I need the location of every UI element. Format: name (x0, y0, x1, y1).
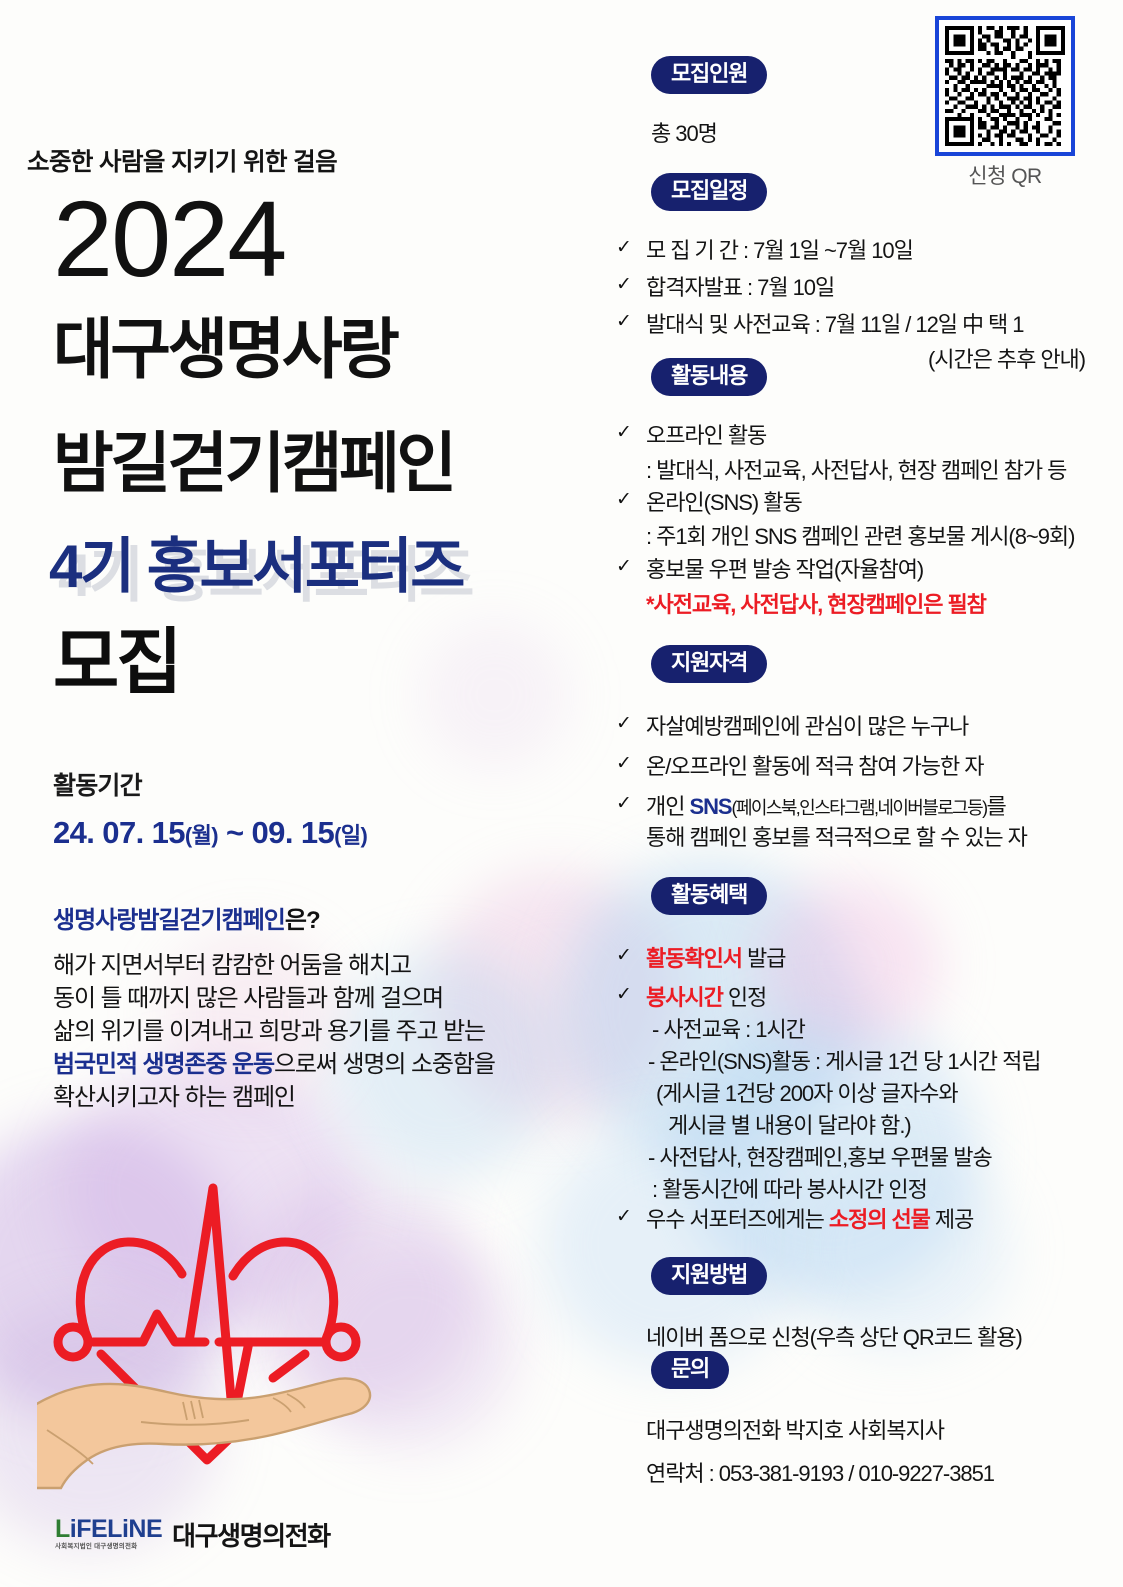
check-icon: ✓ (616, 982, 634, 1008)
desc-line-1: 해가 지면서부터 캄캄한 어둠을 해치고 (53, 950, 573, 983)
desc-line-4: 범국민적 생명존중 운동으로써 생명의 소중함을 (53, 1049, 573, 1082)
period-date-end: 09. 15 (252, 815, 335, 850)
check-icon: ✓ (616, 420, 634, 446)
lifeline-logo-subtitle: 사회복지법인 대구생명의전화 (55, 1544, 162, 1551)
campaign-question-title: 생명사랑밤길걷기캠페인은? (53, 900, 320, 935)
benefit-item: ✓ 활동확인서 발급 (616, 943, 785, 974)
qr-code-label: 신청 QR (935, 160, 1075, 190)
period-date-start: 24. 07. 15 (53, 815, 185, 850)
open-hand-illustration (37, 1378, 370, 1488)
lifeline-logo-rest: iFELiNE (70, 1515, 162, 1543)
desc-line-4-highlight: 범국민적 생명존중 운동 (53, 1051, 274, 1078)
year-heading: 2024 (53, 185, 285, 293)
activity-item-text: 오프라인 활동 (646, 420, 766, 451)
badge-label: 활동내용 (651, 358, 767, 396)
title-highlight: 4기 홍보서포터즈 (49, 537, 463, 597)
desc-line-3: 삶의 위기를 이겨내고 희망과 용기를 주고 받는 (53, 1016, 573, 1049)
lifeline-wordmark: LiFELiNE 사회복지법인 대구생명의전화 (55, 1517, 162, 1551)
qualification-item-text: 온/오프라인 활동에 적극 참여 가능한 자 (646, 751, 983, 782)
section-badge-apply-method: 지원방법 (651, 1257, 767, 1295)
check-icon: ✓ (616, 791, 634, 817)
desc-line-4-rest: 으로써 생명의 소중함을 (274, 1051, 495, 1078)
lifeline-logo: LiFELiNE 사회복지법인 대구생명의전화 대구생명의전화 (55, 1508, 330, 1560)
period-label: 활동기간 (53, 766, 142, 802)
qualification-item: ✓ 개인 SNS(페이스북,인스타그램,네이버블로그등)를 (616, 791, 1006, 822)
activity-warning: *사전교육, 사전답사, 현장캠페인은 필참 (646, 589, 986, 620)
badge-label: 모집일정 (651, 173, 767, 211)
campaign-description: 해가 지면서부터 캄캄한 어둠을 해치고 동이 틀 때까지 많은 사람들과 함께… (53, 950, 573, 1114)
period-day-end: (일) (334, 823, 367, 848)
campaign-question-blue: 생명사랑밤길걷기캠페인 (53, 907, 285, 934)
benefit-rest: 발급 (742, 946, 785, 971)
check-icon: ✓ (616, 1204, 634, 1230)
benefit-sub-item: : 활동시간에 따라 봉사시간 인정 (652, 1174, 927, 1205)
check-icon: ✓ (616, 272, 634, 298)
benefit-item-text: 봉사시간 인정 (646, 982, 766, 1013)
schedule-item-text: 발대식 및 사전교육 : 7월 11일 / 12일 中 택 1 (646, 309, 1023, 340)
qualification-item-text: 개인 SNS(페이스북,인스타그램,네이버블로그등)를 (646, 791, 1006, 822)
section-badge-recruit-schedule: 모집일정 (651, 173, 767, 211)
period-day-start: (월) (185, 823, 218, 848)
benefit-item-text: 활동확인서 발급 (646, 943, 785, 974)
schedule-item-text: 모 집 기 간 : 7월 1일 ~7월 10일 (646, 235, 913, 266)
section-badge-benefits: 활동혜택 (651, 877, 767, 915)
activity-item: ✓ 온라인(SNS) 활동 (616, 487, 802, 518)
check-icon: ✓ (616, 943, 634, 969)
tagline: 소중한 사람을 지키기 위한 걸음 (27, 143, 337, 178)
qualification-item-continued: 통해 캠페인 홍보를 적극적으로 할 수 있는 자 (646, 822, 1027, 853)
section-badge-qualification: 지원자격 (651, 645, 767, 683)
qr-code-image (945, 26, 1065, 146)
period-tilde: ~ (218, 815, 252, 850)
benefit-last-post: 제공 (930, 1207, 973, 1232)
qualification-item: ✓ 온/오프라인 활동에 적극 참여 가능한 자 (616, 751, 983, 782)
section-badge-recruit-count: 모집인원 (651, 56, 767, 94)
poster-root: 소중한 사람을 지키기 위한 걸음 2024 대구생명사랑 밤길걷기캠페인 4기… (0, 0, 1123, 1587)
badge-label: 활동혜택 (651, 877, 767, 915)
contact-phone: 연락처 : 053-381-9193 / 010-9227-3851 (646, 1458, 994, 1489)
check-icon: ✓ (616, 487, 634, 513)
schedule-item: ✓ 모 집 기 간 : 7월 1일 ~7월 10일 (616, 235, 913, 266)
badge-label: 모집인원 (651, 56, 767, 94)
section-badge-contact: 문의 (651, 1351, 729, 1389)
activity-item-detail: : 주1회 개인 SNS 캠페인 관련 홍보물 게시(8~9회) (646, 521, 1074, 552)
watercolor-blob (420, 620, 570, 770)
schedule-item: ✓ 합격자발표 : 7월 10일 (616, 272, 834, 303)
application-qr-code[interactable] (935, 16, 1075, 156)
lifeline-logo-l: L (55, 1515, 70, 1543)
benefit-sub-item: - 사전교육 : 1시간 (652, 1014, 805, 1045)
qual-sns-list: (페이스북,인스타그램,네이버블로그등) (732, 798, 987, 818)
schedule-item-text: 합격자발표 : 7월 10일 (646, 272, 834, 303)
title-line-2: 밤길걷기캠페인 (53, 430, 454, 496)
lifeline-wordmark-text: LiFELiNE (55, 1517, 162, 1542)
contact-person: 대구생명의전화 박지호 사회복지사 (646, 1415, 944, 1446)
title-line-4: 모집 (53, 627, 179, 699)
benefit-sub-item: (게시글 1건당 200자 이상 글자수와 (656, 1078, 958, 1109)
schedule-item: ✓ 발대식 및 사전교육 : 7월 11일 / 12일 中 택 1 (616, 309, 1023, 340)
title-line-1: 대구생명사랑 (53, 316, 396, 382)
check-icon: ✓ (616, 309, 634, 335)
benefit-sub-item: - 사전답사, 현장캠페인,홍보 우편물 발송 (648, 1142, 992, 1173)
benefit-sub-item: - 온라인(SNS)활동 : 게시글 1건 당 1시간 적립 (648, 1046, 1040, 1077)
benefit-last-pre: 우수 서포터즈에게는 (646, 1207, 829, 1232)
benefit-sub-item: 게시글 별 내용이 달라야 함.) (668, 1110, 911, 1141)
recruit-count-value: 총 30명 (651, 118, 717, 149)
section-badge-activity-content: 활동내용 (651, 358, 767, 396)
check-icon: ✓ (616, 554, 634, 580)
benefit-highlight: 활동확인서 (646, 946, 742, 971)
benefit-last-highlight: 소정의 선물 (829, 1207, 930, 1232)
desc-line-5: 확산시키고자 하는 캠페인 (53, 1082, 573, 1115)
benefit-item: ✓ 우수 서포터즈에게는 소정의 선물 제공 (616, 1204, 973, 1235)
desc-line-2: 동이 틀 때까지 많은 사람들과 함께 걸으며 (53, 983, 573, 1016)
apply-method-text: 네이버 폼으로 신청(우측 상단 QR코드 활용) (646, 1322, 1022, 1353)
schedule-note: (시간은 추후 안내) (928, 344, 1085, 375)
activity-item-detail: : 발대식, 사전교육, 사전답사, 현장 캠페인 참가 등 (646, 455, 1066, 486)
check-icon: ✓ (616, 711, 634, 737)
benefit-rest: 인정 (723, 985, 766, 1010)
badge-label: 문의 (651, 1351, 729, 1389)
period-date: 24. 07. 15(월) ~ 09. 15(일) (53, 815, 367, 851)
benefit-item-text: 우수 서포터즈에게는 소정의 선물 제공 (646, 1204, 973, 1235)
activity-item-text: 온라인(SNS) 활동 (646, 487, 802, 518)
qual-post: 를 (987, 794, 1006, 819)
check-icon: ✓ (616, 751, 634, 777)
activity-item: ✓ 홍보물 우편 발송 작업(자율참여) (616, 554, 923, 585)
qual-pre: 개인 (646, 794, 689, 819)
badge-label: 지원방법 (651, 1257, 767, 1295)
qual-sns: SNS (689, 794, 731, 819)
lifeline-logo-korean: 대구생명의전화 (172, 1516, 330, 1553)
qualification-item-text: 자살예방캠페인에 관심이 많은 누구나 (646, 711, 968, 742)
activity-item: ✓ 오프라인 활동 (616, 420, 766, 451)
qualification-item: ✓ 자살예방캠페인에 관심이 많은 누구나 (616, 711, 968, 742)
badge-label: 지원자격 (651, 645, 767, 683)
benefit-item: ✓ 봉사시간 인정 (616, 982, 766, 1013)
check-icon: ✓ (616, 235, 634, 261)
campaign-question-suffix: 은? (285, 907, 320, 934)
benefit-highlight: 봉사시간 (646, 985, 723, 1010)
activity-item-text: 홍보물 우편 발송 작업(자율참여) (646, 554, 923, 585)
heart-in-hand-illustration (37, 1130, 377, 1490)
